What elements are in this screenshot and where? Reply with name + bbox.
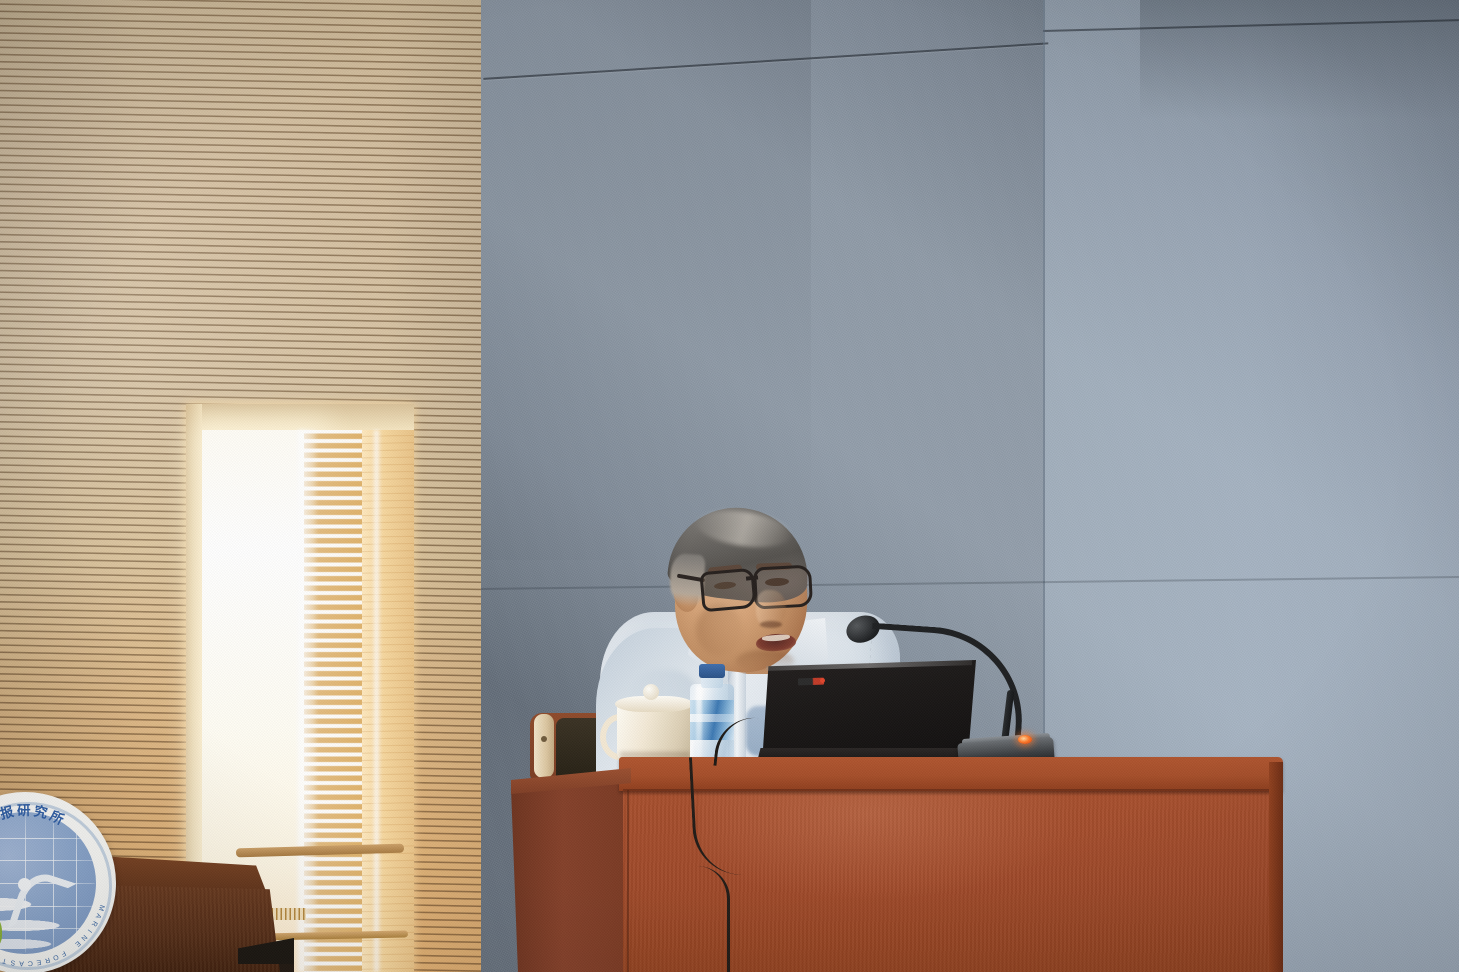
podium-side-panel (511, 768, 627, 972)
cheek-shadow (696, 604, 742, 656)
emblem-arc-char: N (79, 933, 88, 941)
cable-lower-segment (697, 866, 730, 972)
emblem-arc-char: R (44, 956, 51, 964)
nostril-shadow (760, 621, 782, 628)
emblem-arc-char: C (28, 959, 34, 966)
teacup-lid-knob (643, 684, 659, 700)
emblem-arc-char: F (60, 949, 67, 957)
emblem-arc-char (68, 945, 74, 952)
microphone-indicator-led-icon (1018, 735, 1032, 744)
emblem-arc-text-lower: MARINE FORECAST (0, 792, 116, 972)
glasses-lens-left (699, 568, 756, 613)
emblem-arc-char: O (52, 953, 60, 962)
emblem-arc-char: S (10, 958, 16, 966)
podium-highlight (700, 770, 1120, 970)
emblem-arc-char: A (19, 959, 24, 966)
emblem-arc-char: E (36, 958, 42, 966)
conference-emblem: 品台海洋预报研究所 MARINE FORECAST 06 (0, 792, 116, 972)
emblem-arc-char: A (94, 912, 102, 919)
water-bottle-cap (699, 664, 725, 678)
podium-right-edge (1269, 762, 1283, 972)
emblem-arc-char: I (86, 928, 93, 934)
wall-shadow-top-right (1140, 0, 1459, 120)
photo-scene: 品台海洋预报研究所 MARINE FORECAST 06 Conference … (0, 0, 1459, 972)
emblem-arc-char: E (73, 939, 81, 947)
chair-rail (534, 714, 554, 778)
podium-corner-seam (627, 790, 629, 972)
emblem-arc-char: R (90, 920, 99, 928)
blind-edge-glow (298, 430, 316, 972)
water-bottle-highlight (696, 686, 702, 760)
window-light-streak (372, 430, 381, 972)
chair-rail-fastener (541, 736, 547, 742)
window-reveal-panel (362, 430, 414, 972)
emblem-arc-char: T (2, 956, 8, 964)
laptop-logo-dot-icon (820, 678, 825, 683)
window-head-jamb (186, 404, 414, 430)
emblem-arc-char: M (97, 904, 105, 912)
